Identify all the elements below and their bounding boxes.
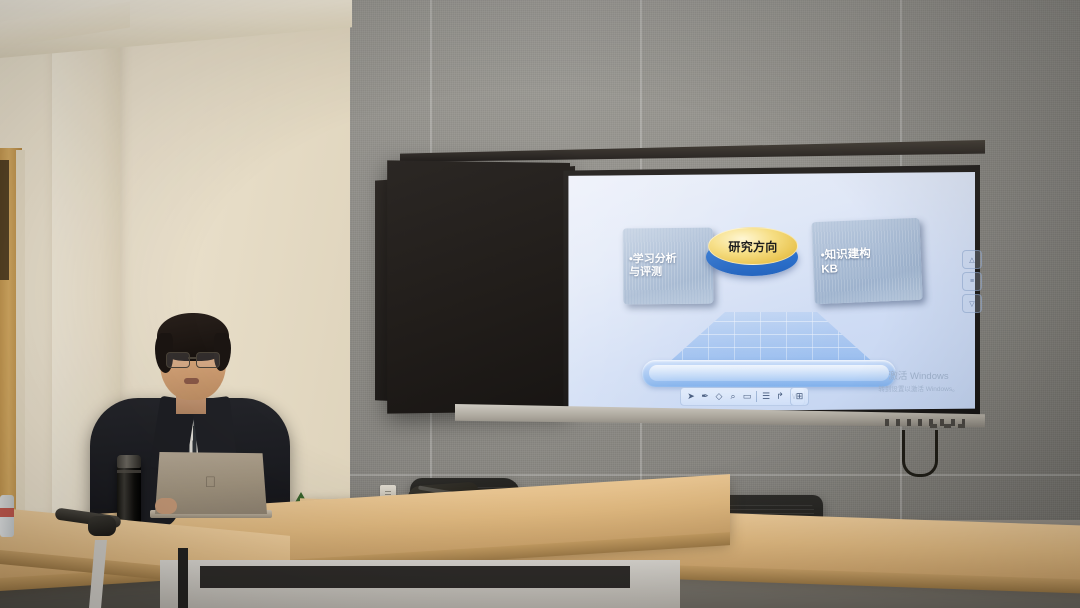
dark-board-face xyxy=(387,160,570,413)
thermos-cap xyxy=(117,455,141,468)
bag-pouch xyxy=(88,516,116,536)
door-gap xyxy=(0,160,9,280)
presentation-screen[interactable]: •学习分析 与评测 •知识建构 KB 研究方向 激活 Windows 转到设置以… xyxy=(566,172,975,412)
table-leg xyxy=(178,548,188,608)
door-jamb xyxy=(16,150,25,538)
apple-logo-icon:  xyxy=(203,474,218,491)
screen-glare xyxy=(566,172,975,412)
glasses-bridge xyxy=(188,357,196,359)
presenter-mouth xyxy=(184,378,199,384)
meeting-room-scene: •学习分析 与评测 •知识建构 KB 研究方向 激活 Windows 转到设置以… xyxy=(0,0,1080,608)
display-hardware-buttons[interactable]: △ ≡ ▽ xyxy=(962,250,984,312)
glasses-lens-left xyxy=(166,352,190,368)
display-ports-secondary xyxy=(930,424,966,428)
presenter-hand xyxy=(155,498,177,514)
input-label-button[interactable]: ≡ xyxy=(962,272,982,291)
glasses-lens-right xyxy=(196,352,220,368)
channel-up-button[interactable]: △ xyxy=(962,250,982,269)
thermos-ring xyxy=(117,470,141,473)
bottle-cap xyxy=(0,508,14,517)
pedestal-shadow xyxy=(200,566,630,588)
channel-down-button[interactable]: ▽ xyxy=(962,294,982,313)
hanging-cable xyxy=(902,430,938,477)
